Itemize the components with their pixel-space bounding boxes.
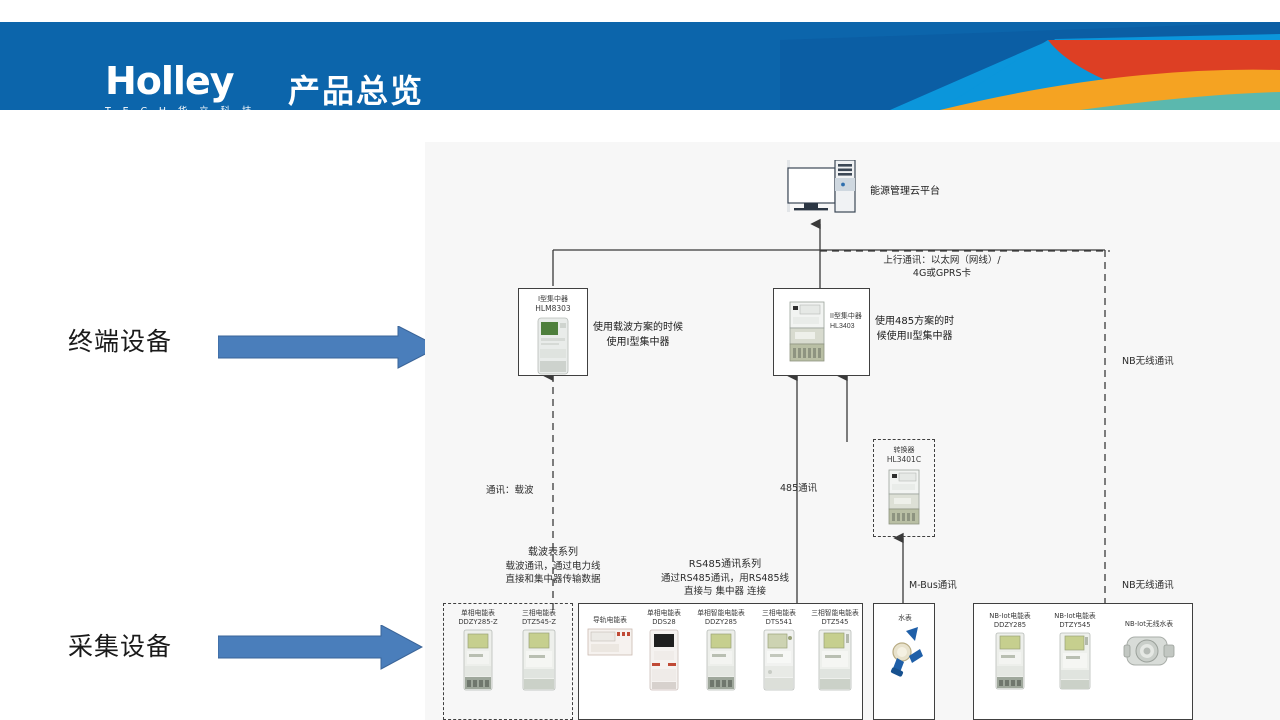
- node-concentrator-2[interactable]: II型集中器 HL3403: [773, 288, 870, 376]
- converter-model: HL3401C: [874, 455, 934, 465]
- concentrator-2-title: II型集中器 HL3403: [830, 312, 862, 332]
- logo-wordmark: Holley: [105, 62, 265, 100]
- converter-image: [886, 469, 922, 525]
- concentrator-1-note-line2: 使用I型集中器: [593, 335, 683, 350]
- converter-title: 转换器 HL3401C: [874, 440, 934, 465]
- three-phase-meter-icon: [521, 629, 557, 691]
- group-rs485-meters[interactable]: 导轨电能表 单相电能表 DDS28: [578, 603, 863, 720]
- link-label-mbus: M-Bus通讯: [909, 579, 957, 592]
- single-phase-meter-dark-icon: [648, 629, 680, 691]
- concentrator-1-model: HLM8303: [519, 304, 587, 314]
- single-phase-smart-meter-icon: [993, 632, 1027, 690]
- meter-rs485-2-name: 单相智能电能表: [691, 609, 751, 618]
- meter-nbiot-0-name: NB-Iot电能表: [980, 612, 1040, 621]
- meter-rs485-3-model: DTS541: [752, 618, 806, 627]
- architecture-diagram: 能源管理云平台 上行通讯：以太网（网线）/ 4G或GPRS卡 I型集中器 HLM…: [425, 142, 1280, 720]
- meter-rs485-3-name: 三相电能表: [752, 609, 806, 618]
- concentrator-2-image: [787, 301, 827, 363]
- concentrator-2-model: HL3403: [830, 322, 862, 332]
- concentrator-2-note: 使用485方案的时 候使用II型集中器: [875, 314, 954, 344]
- concentrator-1-image: [535, 316, 571, 376]
- meter-water-0[interactable]: 水表: [874, 614, 936, 686]
- three-phase-smart-meter-icon: [817, 629, 853, 691]
- meter-rs485-3[interactable]: 三相电能表 DTS541: [752, 609, 806, 696]
- meter-carrier-0-name: 单相电能表: [449, 609, 507, 618]
- concentrator-2-note-line1: 使用485方案的时: [875, 314, 954, 329]
- section-label-terminal: 终端设备: [68, 322, 172, 358]
- logo-subtext: T E C H 华 立 科 技: [105, 103, 265, 110]
- three-phase-meter-icon: [762, 629, 796, 691]
- header-swoosh-decoration: [780, 22, 1280, 110]
- link-label-rs485: 485通讯: [780, 482, 817, 495]
- section-label-collect: 采集设备: [68, 627, 172, 663]
- meter-carrier-1-model: DTZ545-Z: [510, 618, 568, 627]
- wireless-water-meter-icon: [1121, 631, 1177, 675]
- meter-nbiot-0[interactable]: NB-Iot电能表 DDZY285: [980, 612, 1040, 695]
- holley-logo: Holley T E C H 华 立 科 技: [105, 62, 265, 110]
- link-label-carrier: 通讯：载波: [486, 484, 534, 497]
- meter-rs485-1[interactable]: 单相电能表 DDS28: [637, 609, 691, 696]
- meter-carrier-1-name: 三相电能表: [510, 609, 568, 618]
- caption-rs485-line1: 通过RS485通讯，用RS485线: [575, 572, 875, 586]
- concentrator-2-note-line2: 候使用II型集中器: [875, 329, 954, 344]
- group-nbiot-meters[interactable]: NB-Iot电能表 DDZY285 NB-Iot电能表 DTZY545: [973, 603, 1193, 720]
- meter-rs485-1-name: 单相电能表: [637, 609, 691, 618]
- node-converter[interactable]: 转换器 HL3401C: [873, 439, 935, 537]
- meter-rs485-0[interactable]: 导轨电能表: [583, 616, 637, 662]
- meter-carrier-0[interactable]: 单相电能表 DDZY285-Z: [449, 609, 507, 696]
- meter-nbiot-1[interactable]: NB-Iot电能表 DTZY545: [1045, 612, 1105, 695]
- meter-nbiot-2[interactable]: NB-Iot无线水表: [1112, 620, 1186, 680]
- link-label-nb-bottom: NB无线通讯: [1122, 579, 1174, 592]
- concentrator-1-name: I型集中器: [519, 294, 587, 304]
- uplink-dashed-divider: [820, 249, 1110, 253]
- uplink-label-line2: 4G或GPRS卡: [827, 267, 1057, 280]
- concentrator-1-note-line1: 使用载波方案的时候: [593, 320, 683, 335]
- single-phase-smart-meter-icon: [704, 629, 738, 691]
- meter-nbiot-1-model: DTZY545: [1045, 621, 1105, 630]
- meter-rs485-2-model: DDZY285: [691, 618, 751, 627]
- meter-nbiot-0-model: DDZY285: [980, 621, 1040, 630]
- meter-rs485-4[interactable]: 三相智能电能表 DTZ545: [806, 609, 864, 696]
- meter-nbiot-2-name: NB-Iot无线水表: [1112, 620, 1186, 629]
- meter-rs485-0-name: 导轨电能表: [583, 616, 637, 625]
- desktop-computer-icon: [780, 160, 860, 222]
- group-water-meter[interactable]: 水表: [873, 603, 935, 720]
- link-label-nb-right: NB无线通讯: [1122, 355, 1174, 368]
- caption-rs485-line2: 直接与 集中器 连接: [575, 585, 875, 599]
- meter-water-0-name: 水表: [874, 614, 936, 623]
- node-concentrator-1[interactable]: I型集中器 HLM8303: [518, 288, 588, 376]
- converter-name: 转换器: [874, 445, 934, 455]
- arrow-collect: [218, 625, 423, 671]
- uplink-label: 上行通讯：以太网（网线）/ 4G或GPRS卡: [827, 254, 1057, 280]
- meter-carrier-0-model: DDZY285-Z: [449, 618, 507, 627]
- meter-rs485-4-model: DTZ545: [806, 618, 864, 627]
- meter-nbiot-1-name: NB-Iot电能表: [1045, 612, 1105, 621]
- meter-carrier-1[interactable]: 三相电能表 DTZ545-Z: [510, 609, 568, 696]
- caption-rs485-group: RS485通讯系列 通过RS485通讯，用RS485线 直接与 集中器 连接: [575, 558, 875, 599]
- arrow-terminal: [218, 326, 440, 370]
- caption-rs485-head: RS485通讯系列: [575, 558, 875, 572]
- meter-rs485-4-name: 三相智能电能表: [806, 609, 864, 618]
- meter-rs485-2[interactable]: 单相智能电能表 DDZY285: [691, 609, 751, 696]
- page-header: Holley T E C H 华 立 科 技 产品总览: [0, 22, 1280, 110]
- cloud-platform-label: 能源管理云平台: [870, 182, 940, 197]
- water-meter-icon: [882, 625, 928, 681]
- concentrator-1-title: I型集中器 HLM8303: [519, 289, 587, 314]
- page-title: 产品总览: [288, 66, 424, 110]
- single-phase-meter-icon: [461, 629, 495, 691]
- group-carrier-meters[interactable]: 单相电能表 DDZY285-Z 三相电能表 DTZ545-Z: [443, 603, 573, 720]
- concentrator-1-note: 使用载波方案的时候 使用I型集中器: [593, 320, 683, 350]
- concentrator-2-name: II型集中器: [830, 312, 862, 322]
- meter-rs485-1-model: DDS28: [637, 618, 691, 627]
- three-phase-smart-meter-icon: [1058, 632, 1092, 690]
- uplink-label-line1: 上行通讯：以太网（网线）/: [827, 254, 1057, 267]
- din-rail-meter-icon: [587, 627, 633, 657]
